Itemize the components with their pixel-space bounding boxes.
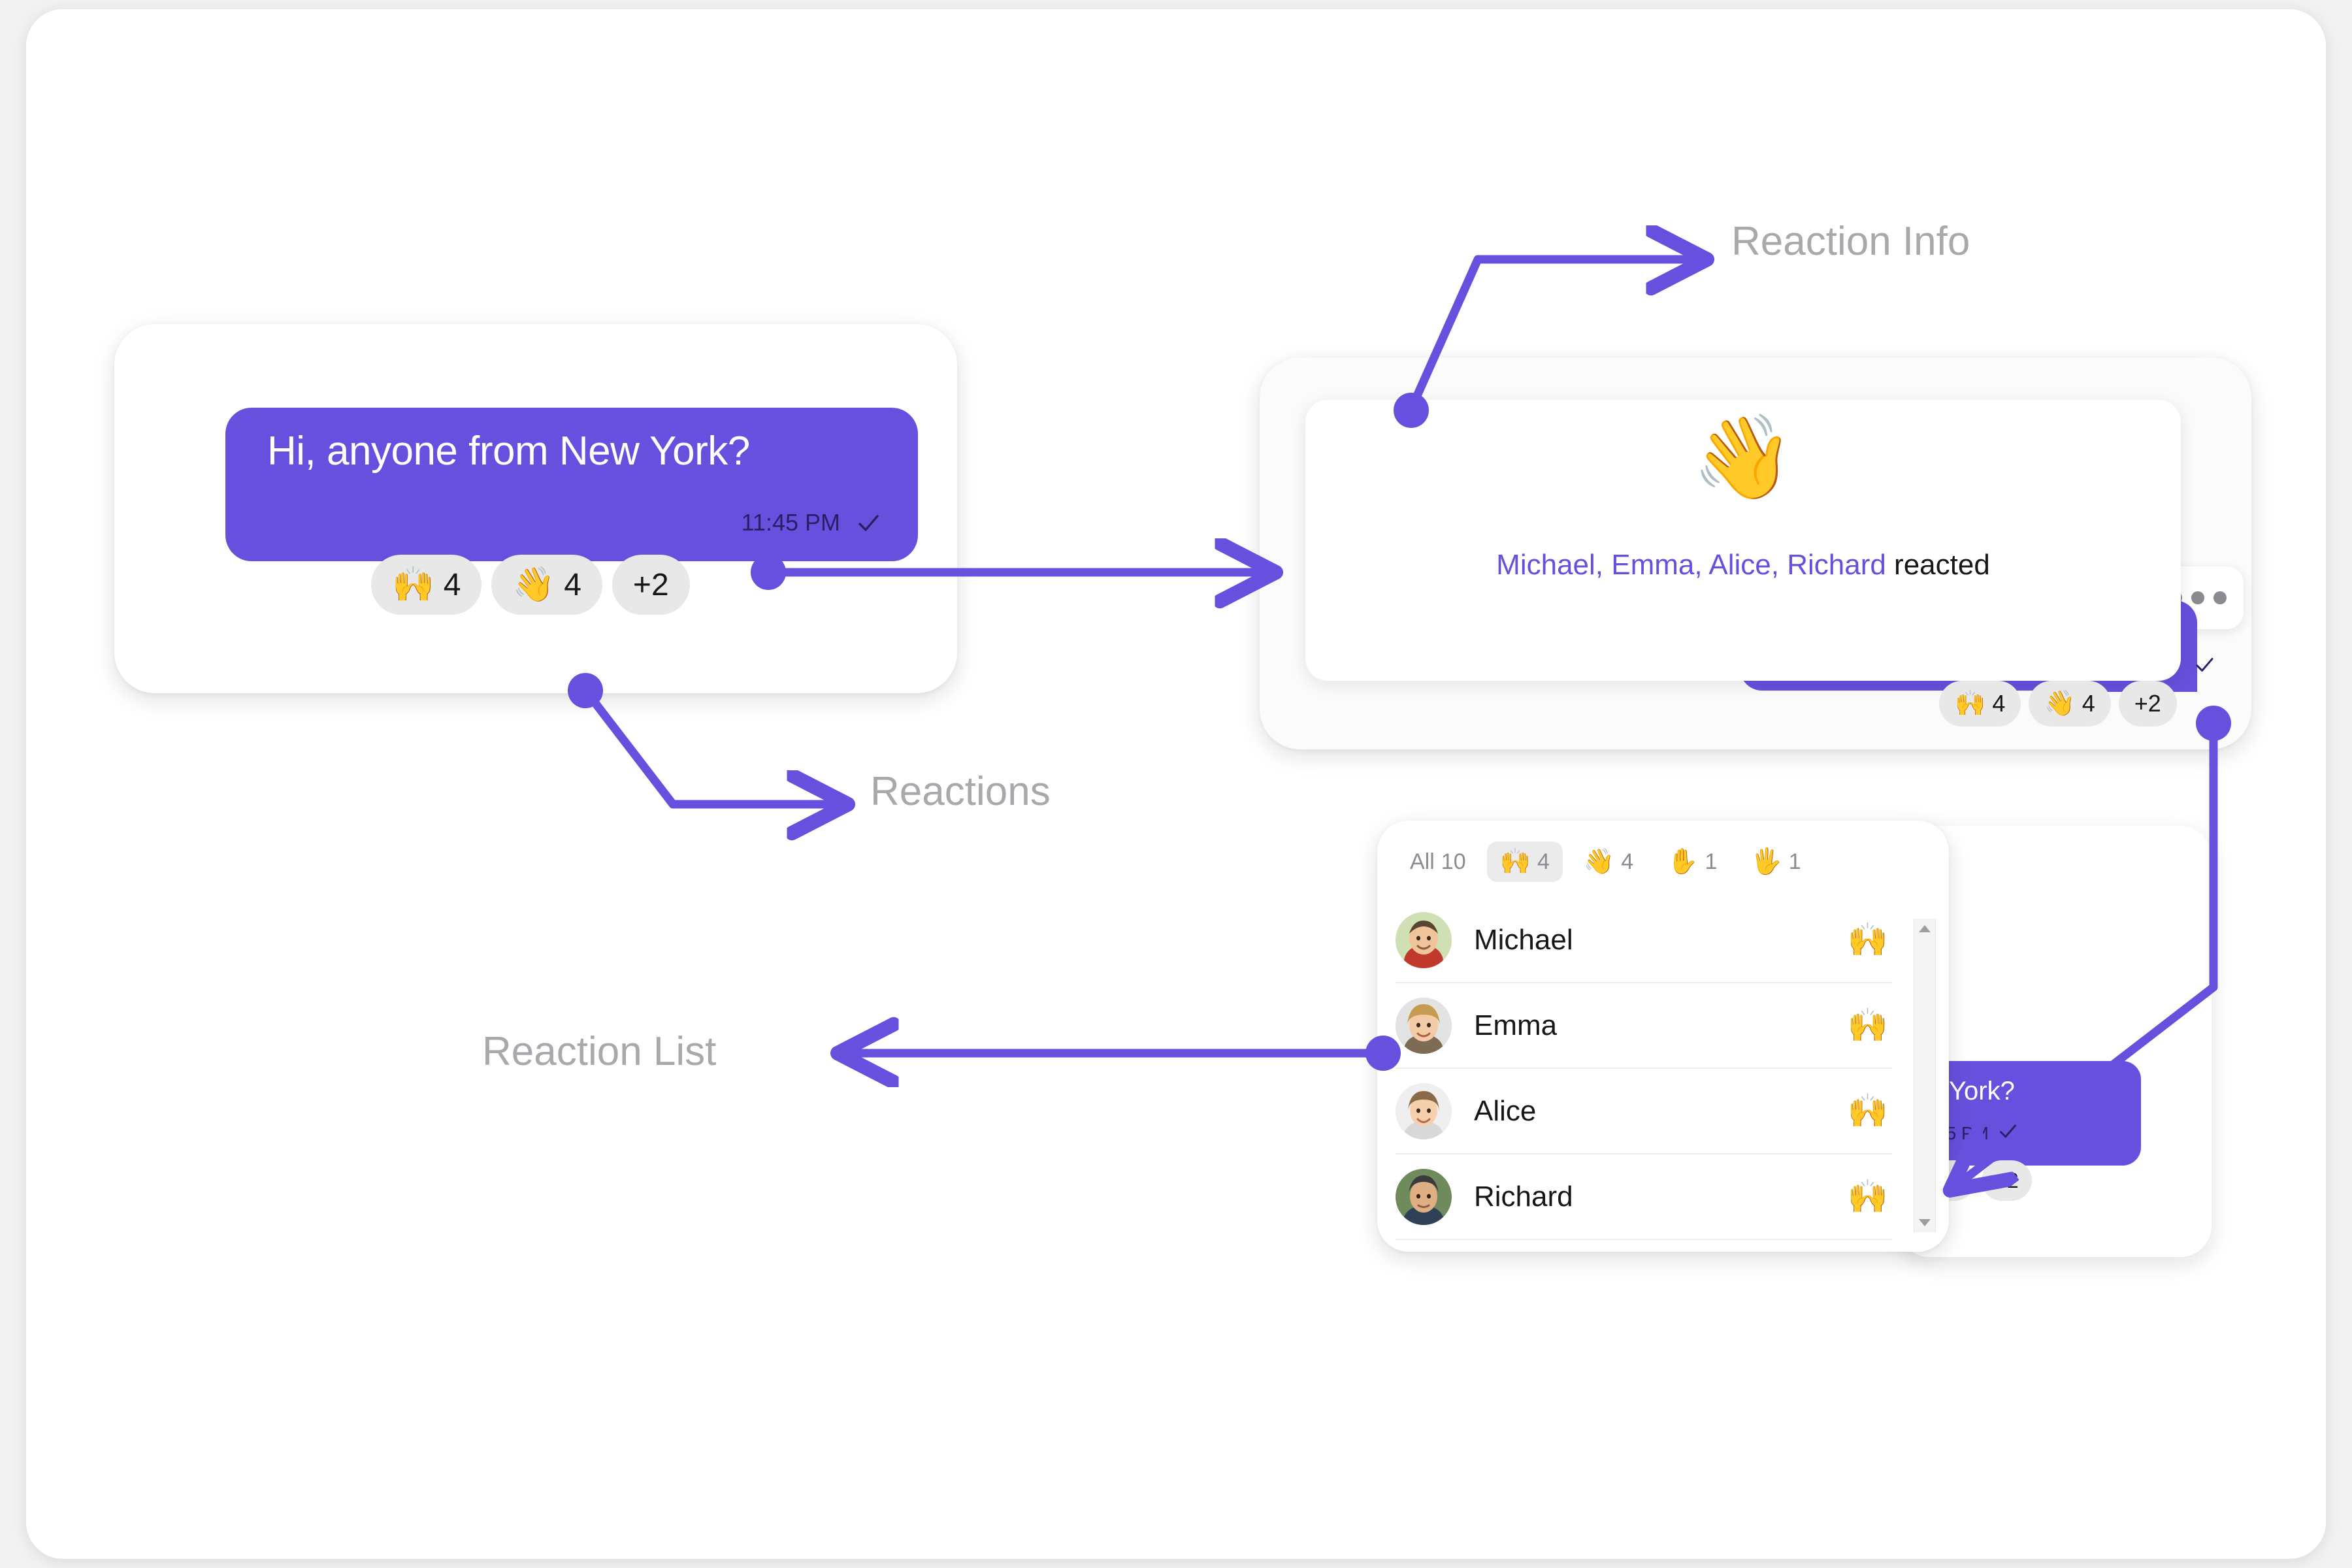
single-check-icon xyxy=(2193,653,2220,680)
single-check-icon xyxy=(1997,1120,2024,1147)
reaction-count: 4 xyxy=(2082,690,2095,717)
tab-count: 4 xyxy=(1621,849,1633,875)
tab-count: 1 xyxy=(1705,849,1717,875)
tab-hand-splayed[interactable]: 🖐 1 xyxy=(1738,841,1814,882)
reaction-info-text: Michael, Emma, Alice, Richard reacted xyxy=(1305,549,2181,581)
reaction-pill-overflow[interactable]: +2 xyxy=(612,555,690,615)
list-item[interactable]: Alice 🙌 xyxy=(1396,1069,1892,1154)
raising-hands-icon: 🙌 xyxy=(1848,1092,1888,1130)
tab-raised-hand[interactable]: ✋ 1 xyxy=(1654,841,1730,882)
waving-hand-icon: 👋 xyxy=(1305,408,2181,506)
annotation-overlay xyxy=(26,9,2326,1559)
reactor-names: Michael, Emma, Alice, Richard xyxy=(1496,549,1886,581)
raising-hands-icon: 🙌 xyxy=(1500,849,1531,874)
tab-count: 10 xyxy=(1441,849,1466,875)
reaction-info-card: 🙌 4 👋 4 +2 👋 Michael, Emma, Alice, Richa… xyxy=(1260,357,2251,749)
reacted-verb: reacted xyxy=(1886,549,1990,581)
raised-hand-icon: ✋ xyxy=(1667,849,1698,874)
chat-bubble-background: York? xyxy=(1932,1061,2141,1166)
tab-waving-hand[interactable]: 👋 4 xyxy=(1571,841,1646,882)
raising-hands-icon: 🙌 xyxy=(1848,921,1888,959)
reaction-count: 4 xyxy=(564,567,581,603)
reaction-count: 4 xyxy=(1950,1169,1962,1193)
avatar-richard xyxy=(1396,1169,1452,1225)
list-item[interactable]: Michael 🙌 xyxy=(1396,898,1892,983)
connector-reaction-list xyxy=(846,1036,1401,1071)
tab-all[interactable]: All 10 xyxy=(1397,841,1479,882)
message-timestamp: 11:45 PM xyxy=(742,509,840,536)
app-canvas: Hi, anyone from New York? 11:45 PM 🙌 4 👋… xyxy=(26,9,2326,1559)
single-check-icon xyxy=(855,509,882,536)
reaction-count: 4 xyxy=(444,567,461,603)
avatar-michael xyxy=(1396,912,1452,968)
reaction-pill-waving-hand[interactable]: 👋 4 xyxy=(491,555,602,615)
raising-hands-icon: 🙌 xyxy=(1848,1006,1888,1045)
more-horizontal-icon xyxy=(2191,591,2204,604)
reaction-list: Michael 🙌 Emma 🙌 xyxy=(1396,898,1892,1240)
reactor-name: Emma xyxy=(1474,1009,1848,1042)
overflow-count: +2 xyxy=(1995,1169,2018,1193)
annotation-label-reaction-list: Reaction List xyxy=(482,1028,716,1075)
waving-hand-icon: 👋 xyxy=(2044,691,2075,716)
list-item[interactable]: Emma 🙌 xyxy=(1396,983,1892,1069)
overflow-count: +2 xyxy=(633,567,669,603)
reactor-name: Michael xyxy=(1474,924,1848,956)
message-text-partial: York? xyxy=(1949,1077,2015,1105)
avatar-emma xyxy=(1396,998,1452,1054)
tab-label: All xyxy=(1410,849,1435,875)
more-horizontal-icon xyxy=(2213,591,2227,604)
reaction-pill-row: 🙌 4 👋 4 +2 xyxy=(1939,681,2177,727)
reaction-list-card: All 10 🙌 4 👋 4 ✋ 1 🖐 1 xyxy=(1377,821,1949,1252)
reaction-pill-raising-hands[interactable]: 🙌 4 xyxy=(371,555,482,615)
reaction-count: 4 xyxy=(1992,690,2005,717)
reaction-pill-raising-hands[interactable]: 🙌 4 xyxy=(1939,681,2021,727)
raising-hands-icon: 🙌 xyxy=(1955,691,1985,716)
tab-count: 4 xyxy=(1537,849,1550,875)
reaction-info-popup: 👋 Michael, Emma, Alice, Richard reacted xyxy=(1305,400,2181,681)
reactor-name: Alice xyxy=(1474,1095,1848,1128)
message-meta: 11:45 PM xyxy=(742,509,882,536)
tab-raising-hands[interactable]: 🙌 4 xyxy=(1487,841,1563,882)
message-meta-background: 45 PM xyxy=(1936,1120,2024,1147)
list-scrollbar[interactable] xyxy=(1914,919,1936,1232)
list-item[interactable]: Richard 🙌 xyxy=(1396,1154,1892,1240)
reaction-pill-overflow[interactable]: +2 xyxy=(1982,1160,2031,1201)
annotation-label-reaction-info: Reaction Info xyxy=(1731,218,1970,265)
message-card: Hi, anyone from New York? 11:45 PM 🙌 4 👋… xyxy=(114,324,957,693)
hand-splayed-icon: 🖐 xyxy=(1751,849,1782,874)
reaction-pill-waving-hand[interactable]: 👋 4 xyxy=(2029,681,2110,727)
raising-hands-icon: 🙌 xyxy=(392,568,434,602)
message-meta-partial xyxy=(2193,653,2220,680)
annotation-label-reactions: Reactions xyxy=(870,768,1051,815)
avatar-alice xyxy=(1396,1083,1452,1139)
reaction-filter-tabs: All 10 🙌 4 👋 4 ✋ 1 🖐 1 xyxy=(1397,841,1814,882)
chat-bubble-outgoing[interactable]: Hi, anyone from New York? 11:45 PM xyxy=(225,408,918,561)
reaction-pill-overflow[interactable]: +2 xyxy=(2119,681,2177,727)
raising-hands-icon: 🙌 xyxy=(1848,1177,1888,1216)
tab-count: 1 xyxy=(1789,849,1801,875)
message-text: Hi, anyone from New York? xyxy=(267,431,887,472)
reactor-name: Richard xyxy=(1474,1181,1848,1213)
triangle-down-icon[interactable] xyxy=(1914,1214,1935,1231)
reaction-pill-row: 🙌 4 👋 4 +2 xyxy=(371,555,690,615)
waving-hand-icon: 👋 xyxy=(1584,849,1614,874)
overflow-count: +2 xyxy=(2134,690,2161,717)
waving-hand-icon: 👋 xyxy=(512,568,555,602)
triangle-up-icon[interactable] xyxy=(1914,920,1935,937)
